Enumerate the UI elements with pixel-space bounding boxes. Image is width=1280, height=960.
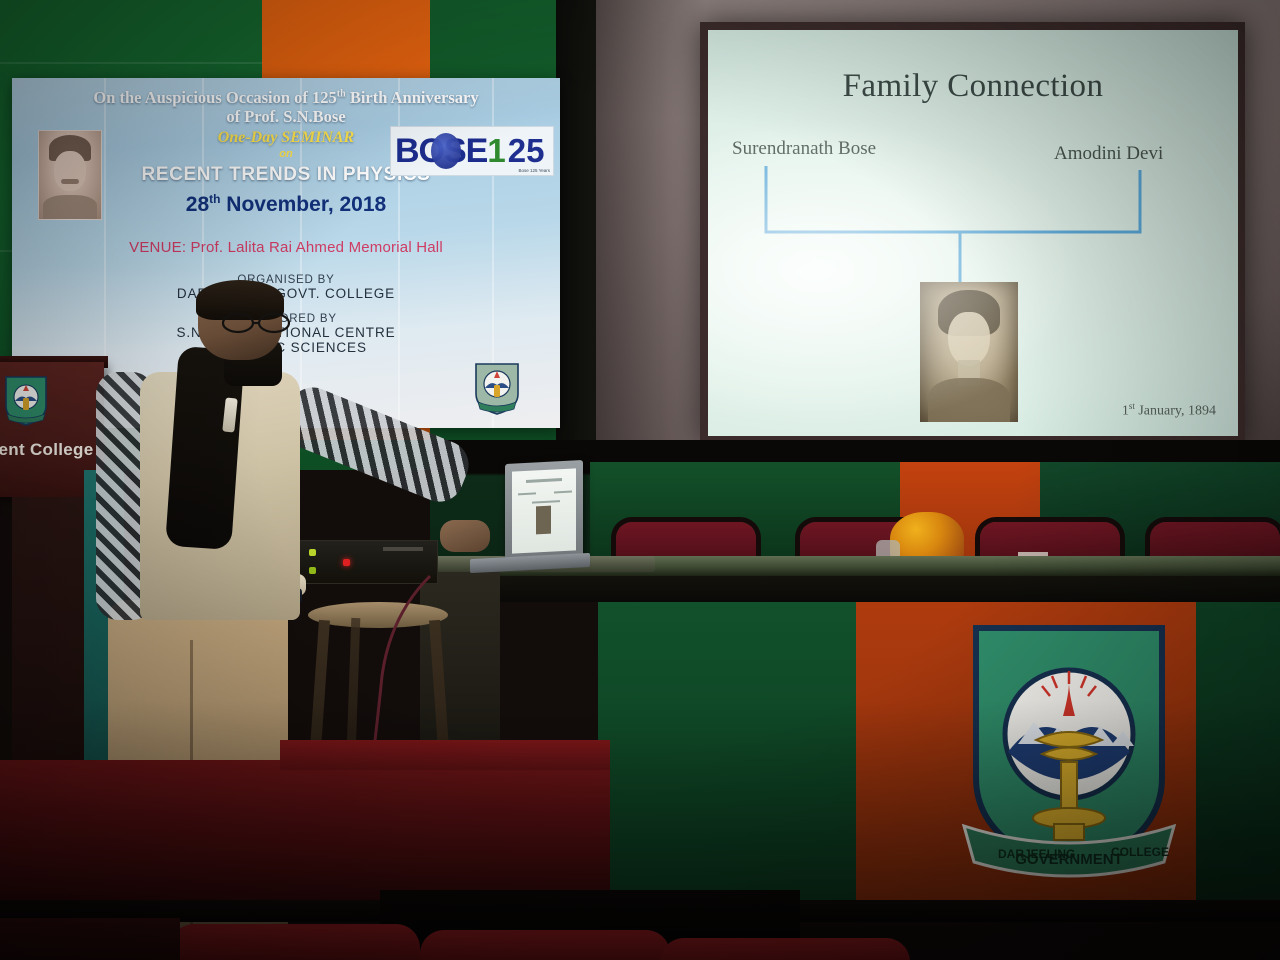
audience-seat	[420, 930, 670, 960]
projection-screen: Family Connection Surendranath Bose Amod…	[708, 30, 1238, 436]
audience-seat	[170, 924, 420, 960]
bose125-orb-icon	[431, 133, 461, 169]
slide-title: Family Connection	[708, 68, 1238, 105]
bose125-logo: BOSE 1 25 Bose 125 Years	[390, 126, 554, 176]
slide-mother-name: Amodini Devi	[1054, 143, 1163, 165]
banner-date-day: 28	[186, 193, 209, 216]
audience-seat	[0, 918, 180, 960]
slide-date-text: January, 1894	[1138, 404, 1216, 419]
stage-front-green-right	[1196, 602, 1280, 902]
eyeglasses-icon	[222, 312, 294, 334]
banner-date-rest: November, 2018	[220, 193, 386, 216]
slide-child-portrait	[920, 282, 1018, 422]
stage-desk-front	[430, 576, 1280, 602]
bose125-tagline: Bose 125 Years	[518, 168, 550, 173]
podium-base	[12, 497, 90, 767]
podium-label: ent College	[0, 440, 102, 460]
bose125-num-one: 1	[487, 132, 505, 170]
slide-father-name: Surendranath Bose	[732, 138, 876, 160]
banner-organised-label: ORGANISED BY	[12, 274, 560, 286]
slide-date-suffix: st	[1129, 401, 1135, 411]
banner-line1b: Birth Anniversary	[346, 88, 479, 107]
banner-college-crest-icon	[472, 358, 522, 416]
slide-date: 1st January, 1894	[1122, 401, 1216, 420]
laptop-slide-portrait	[536, 506, 551, 535]
banner-organised-by: DARJEELING GOVT. COLLEGE	[12, 286, 560, 301]
banner-line2: of Prof. S.N.Bose	[12, 107, 560, 126]
slide-date-ordinal: 1	[1122, 404, 1129, 419]
bose125-num-rest: 25	[508, 132, 545, 170]
stage-front-green-left	[598, 602, 856, 902]
banner-line1: On the Auspicious Occasion of 125th Birt…	[12, 88, 560, 107]
stage-college-crest-icon: DARJEELING GOVERNMENT COLLEGE	[958, 612, 1180, 880]
presenter-hand	[440, 520, 490, 552]
sn-bose-photo	[38, 130, 102, 220]
banner-line1a: On the Auspicious Occasion of 125	[93, 88, 336, 107]
wall-shadow	[596, 0, 706, 470]
banner-venue: VENUE: Prof. Lalita Rai Ahmed Memorial H…	[12, 239, 560, 256]
crest-banner-center: GOVERNMENT	[1015, 851, 1123, 868]
crest-banner-right: COLLEGE	[1111, 845, 1169, 859]
laptop-screen	[512, 468, 576, 553]
audience-seat	[660, 938, 910, 960]
led-power-icon	[343, 559, 350, 566]
banner-line1-sup: th	[337, 89, 346, 100]
podium-college-crest-icon	[2, 372, 50, 428]
led-signal-icon	[309, 567, 316, 574]
auditorium-photo: Family Connection Surendranath Bose Amod…	[0, 0, 1280, 960]
led-signal-icon	[309, 549, 316, 556]
banner-sponsored-by2: FOR BASIC SCIENCES	[12, 340, 560, 355]
carpet-edge	[280, 740, 610, 770]
banner-date-sup: th	[209, 192, 220, 206]
